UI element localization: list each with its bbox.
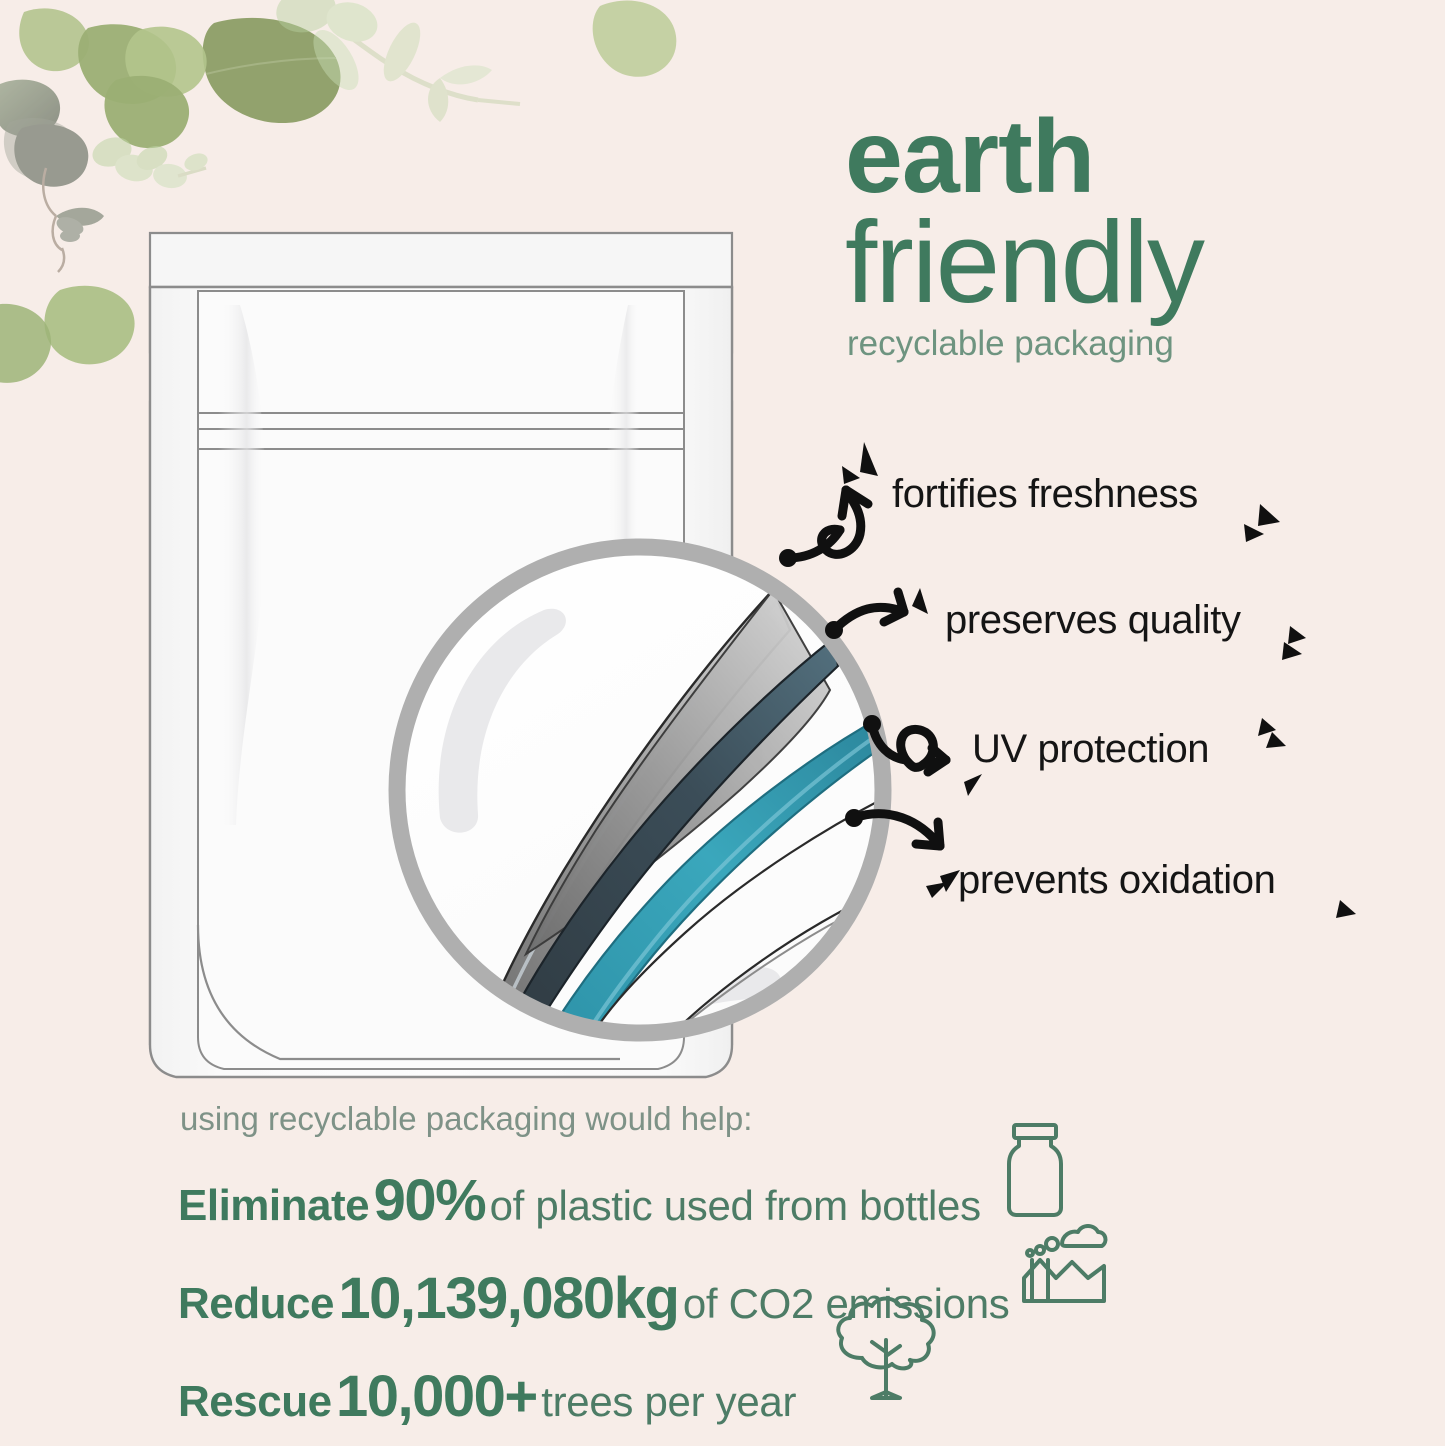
infographic-canvas: fortifies freshness preserves quality UV… [0,0,1445,1446]
stat-verb: Rescue [178,1377,332,1426]
feature-label-prevents-oxidation: prevents oxidation [958,858,1275,903]
curved-arrow-icon [834,592,904,630]
curved-arrow-icon [854,814,940,846]
tree-icon [828,1296,946,1408]
loop-arrow-icon [872,724,946,772]
bottle-icon [1000,1122,1070,1218]
leaf [593,1,677,77]
pouch-top-header [150,233,732,287]
headline-block: earth friendly recyclable packaging [845,108,1365,364]
headline-line-2: friendly [845,207,1365,318]
arrow-origin-dot [825,621,843,639]
stat-verb: Eliminate [178,1181,369,1230]
feature-label-fortifies-freshness: fortifies freshness [892,472,1198,517]
feature-label-uv-protection: UV protection [972,727,1209,772]
stats-intro: using recyclable packaging would help: [180,1100,1078,1138]
headline-subtitle: recyclable packaging [847,324,1365,364]
curly-loop-arrow-icon [788,490,868,558]
stat-tail: trees per year [541,1378,796,1425]
arrow-origin-dot [863,715,881,733]
factory-emissions-icon [1018,1218,1108,1304]
leaf [0,304,51,383]
headline-line-1: earth [845,108,1365,207]
stat-value: 10,139,080kg [338,1266,678,1331]
arrow-origin-dot [845,809,863,827]
arrow-origin-dot [779,549,797,567]
stat-value: 10,000+ [336,1364,537,1429]
stat-value: 90% [374,1168,486,1233]
stat-verb: Reduce [178,1279,334,1328]
leaf-sprig [0,80,104,272]
stat-tail: of plastic used from bottles [490,1182,981,1229]
feature-label-preserves-quality: preserves quality [945,598,1241,643]
leaf [19,8,89,71]
stat-row: Eliminate 90% of plastic used from bottl… [178,1172,1078,1230]
